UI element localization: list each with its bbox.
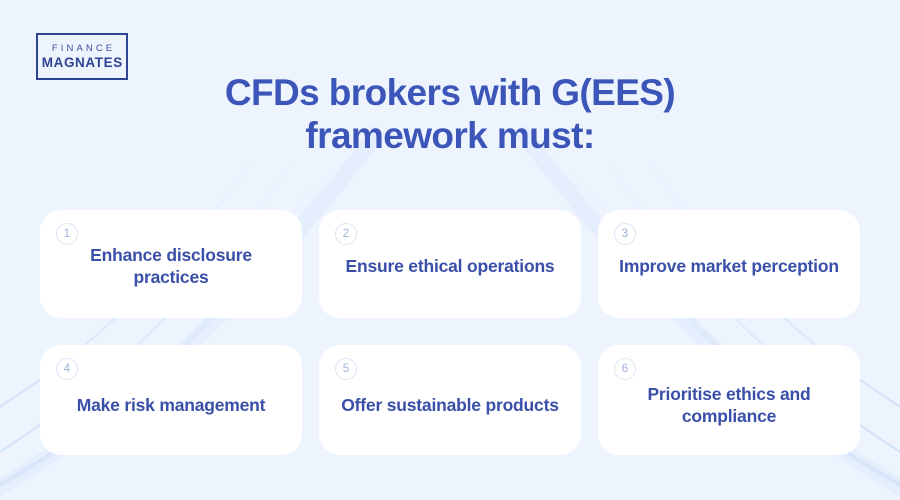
card-number-badge: 6 bbox=[614, 358, 636, 380]
card-label: Enhance disclosure practices bbox=[58, 244, 284, 288]
page-title: CFDs brokers with G(EES) framework must: bbox=[150, 72, 750, 158]
card-3: 3 Improve market perception bbox=[598, 210, 860, 318]
infographic-slide: FINANCE MAGNATES CFDs brokers with G(EES… bbox=[0, 0, 900, 500]
logo-text-magnates: MAGNATES bbox=[41, 56, 123, 70]
card-2: 2 Ensure ethical operations bbox=[319, 210, 581, 318]
card-4: 4 Make risk management bbox=[40, 345, 302, 455]
card-5: 5 Offer sustainable products bbox=[319, 345, 581, 455]
card-label: Improve market perception bbox=[619, 255, 839, 277]
card-1: 1 Enhance disclosure practices bbox=[40, 210, 302, 318]
card-number-badge: 1 bbox=[56, 223, 78, 245]
card-label: Offer sustainable products bbox=[341, 394, 558, 416]
card-6: 6 Prioritise ethics and compliance bbox=[598, 345, 860, 455]
logo-text-finance: FINANCE bbox=[49, 44, 116, 54]
cards-grid: 1 Enhance disclosure practices 2 Ensure … bbox=[40, 210, 860, 455]
card-number-badge: 2 bbox=[335, 223, 357, 245]
card-number-badge: 4 bbox=[56, 358, 78, 380]
card-label: Ensure ethical operations bbox=[346, 255, 555, 277]
card-label: Make risk management bbox=[77, 394, 266, 416]
card-number-badge: 5 bbox=[335, 358, 357, 380]
card-number-badge: 3 bbox=[614, 223, 636, 245]
finance-magnates-logo: FINANCE MAGNATES bbox=[36, 33, 128, 80]
card-label: Prioritise ethics and compliance bbox=[616, 383, 842, 427]
